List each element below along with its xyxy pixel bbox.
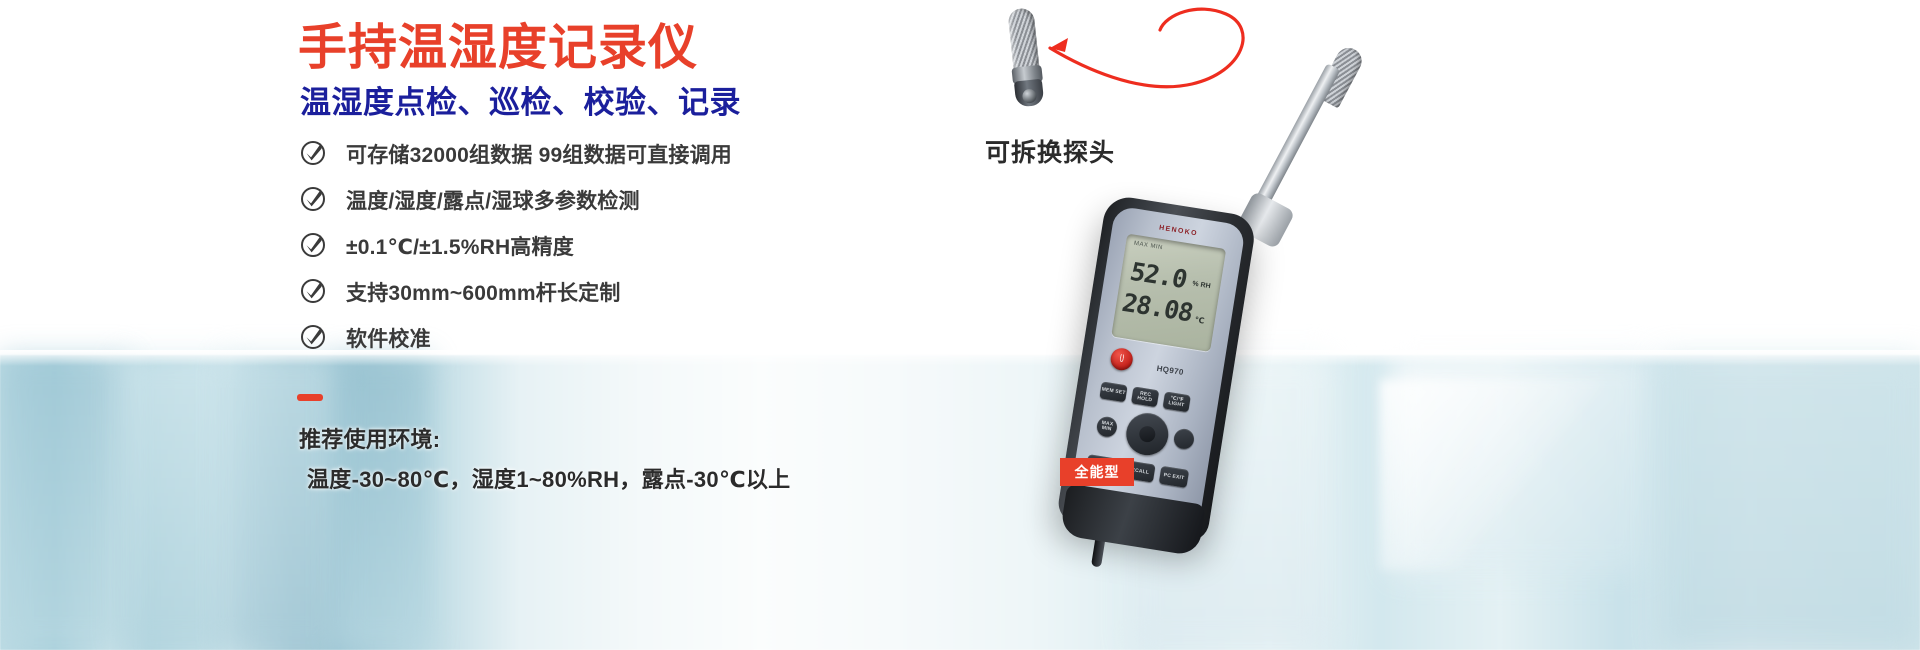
keypad: MEM SET REC HOLD ℃/℉ LIGHT MAX MIN SAVE … [1083, 381, 1209, 505]
background-blob [1660, 355, 1920, 650]
probe-callout-label: 可拆换探头 [985, 133, 1115, 169]
power-button[interactable] [1109, 347, 1134, 372]
list-item: 软件校准 [300, 315, 940, 361]
feature-text: 温度/湿度/露点/湿球多参数检测 [346, 185, 640, 215]
humidity-unit: % RH [1192, 280, 1211, 290]
key-max-min[interactable]: MAX MIN [1096, 415, 1119, 438]
key-unit-light[interactable]: ℃/℉ LIGHT [1163, 391, 1191, 412]
key-pc-exit[interactable]: PC EXIT [1159, 466, 1189, 488]
product-image: HENOKO MAX MIN 52.0 % RH 28.08 ℃ HQ970 M… [960, 0, 1460, 650]
list-item: 温度/湿度/露点/湿球多参数检测 [300, 177, 940, 223]
note-title: 推荐使用环境: [299, 420, 999, 460]
key-mem-set[interactable]: MEM SET [1099, 381, 1127, 402]
instrument-body: HENOKO MAX MIN 52.0 % RH 28.08 ℃ HQ970 M… [1080, 60, 1440, 580]
feature-text: 可存储32000组数据 99组数据可直接调用 [346, 139, 732, 169]
list-item: ±0.1℃/±1.5%RH高精度 [300, 223, 940, 269]
key-rec-hold[interactable]: REC HOLD [1131, 386, 1159, 407]
lcd-mini-label: MAX MIN [1133, 241, 1163, 251]
product-banner: 手持温湿度记录仪 温湿度点检、巡检、校验、记录 可存储32000组数据 99组数… [0, 0, 1920, 650]
key-extra[interactable] [1173, 427, 1196, 450]
check-circle-icon [300, 186, 326, 212]
feature-text: ±0.1℃/±1.5%RH高精度 [346, 231, 574, 261]
check-circle-icon [300, 140, 326, 166]
status-badge: 全能型 [1060, 458, 1134, 486]
feature-text: 软件校准 [346, 323, 431, 353]
page-title: 手持温湿度记录仪 [298, 8, 698, 79]
environment-note: 推荐使用环境: 温度-30~80℃，湿度1~80%RH，露点-30℃以上 [299, 420, 999, 500]
page-subtitle: 温湿度点检、巡检、校验、记录 [300, 77, 741, 122]
check-circle-icon [300, 278, 326, 304]
note-divider-dash [297, 394, 323, 401]
check-circle-icon [300, 232, 326, 258]
check-circle-icon [300, 324, 326, 350]
temperature-reading: 28.08 [1119, 288, 1195, 327]
lcd-display: MAX MIN 52.0 % RH 28.08 ℃ [1111, 234, 1226, 352]
note-detail: 温度-30~80℃，湿度1~80%RH，露点-30℃以上 [299, 460, 999, 500]
humidity-reading: 52.0 [1127, 257, 1189, 294]
list-item: 支持30mm~600mm杆长定制 [300, 269, 940, 315]
navigation-pad[interactable] [1123, 410, 1171, 458]
list-item: 可存储32000组数据 99组数据可直接调用 [300, 131, 940, 177]
temperature-unit: ℃ [1194, 315, 1205, 325]
feature-list: 可存储32000组数据 99组数据可直接调用 温度/湿度/露点/湿球多参数检测 … [300, 131, 940, 361]
copy-block: 手持温湿度记录仪 温湿度点检、巡检、校验、记录 可存储32000组数据 99组数… [0, 0, 980, 650]
feature-text: 支持30mm~600mm杆长定制 [346, 277, 621, 307]
model-label: HQ970 [1156, 364, 1184, 377]
